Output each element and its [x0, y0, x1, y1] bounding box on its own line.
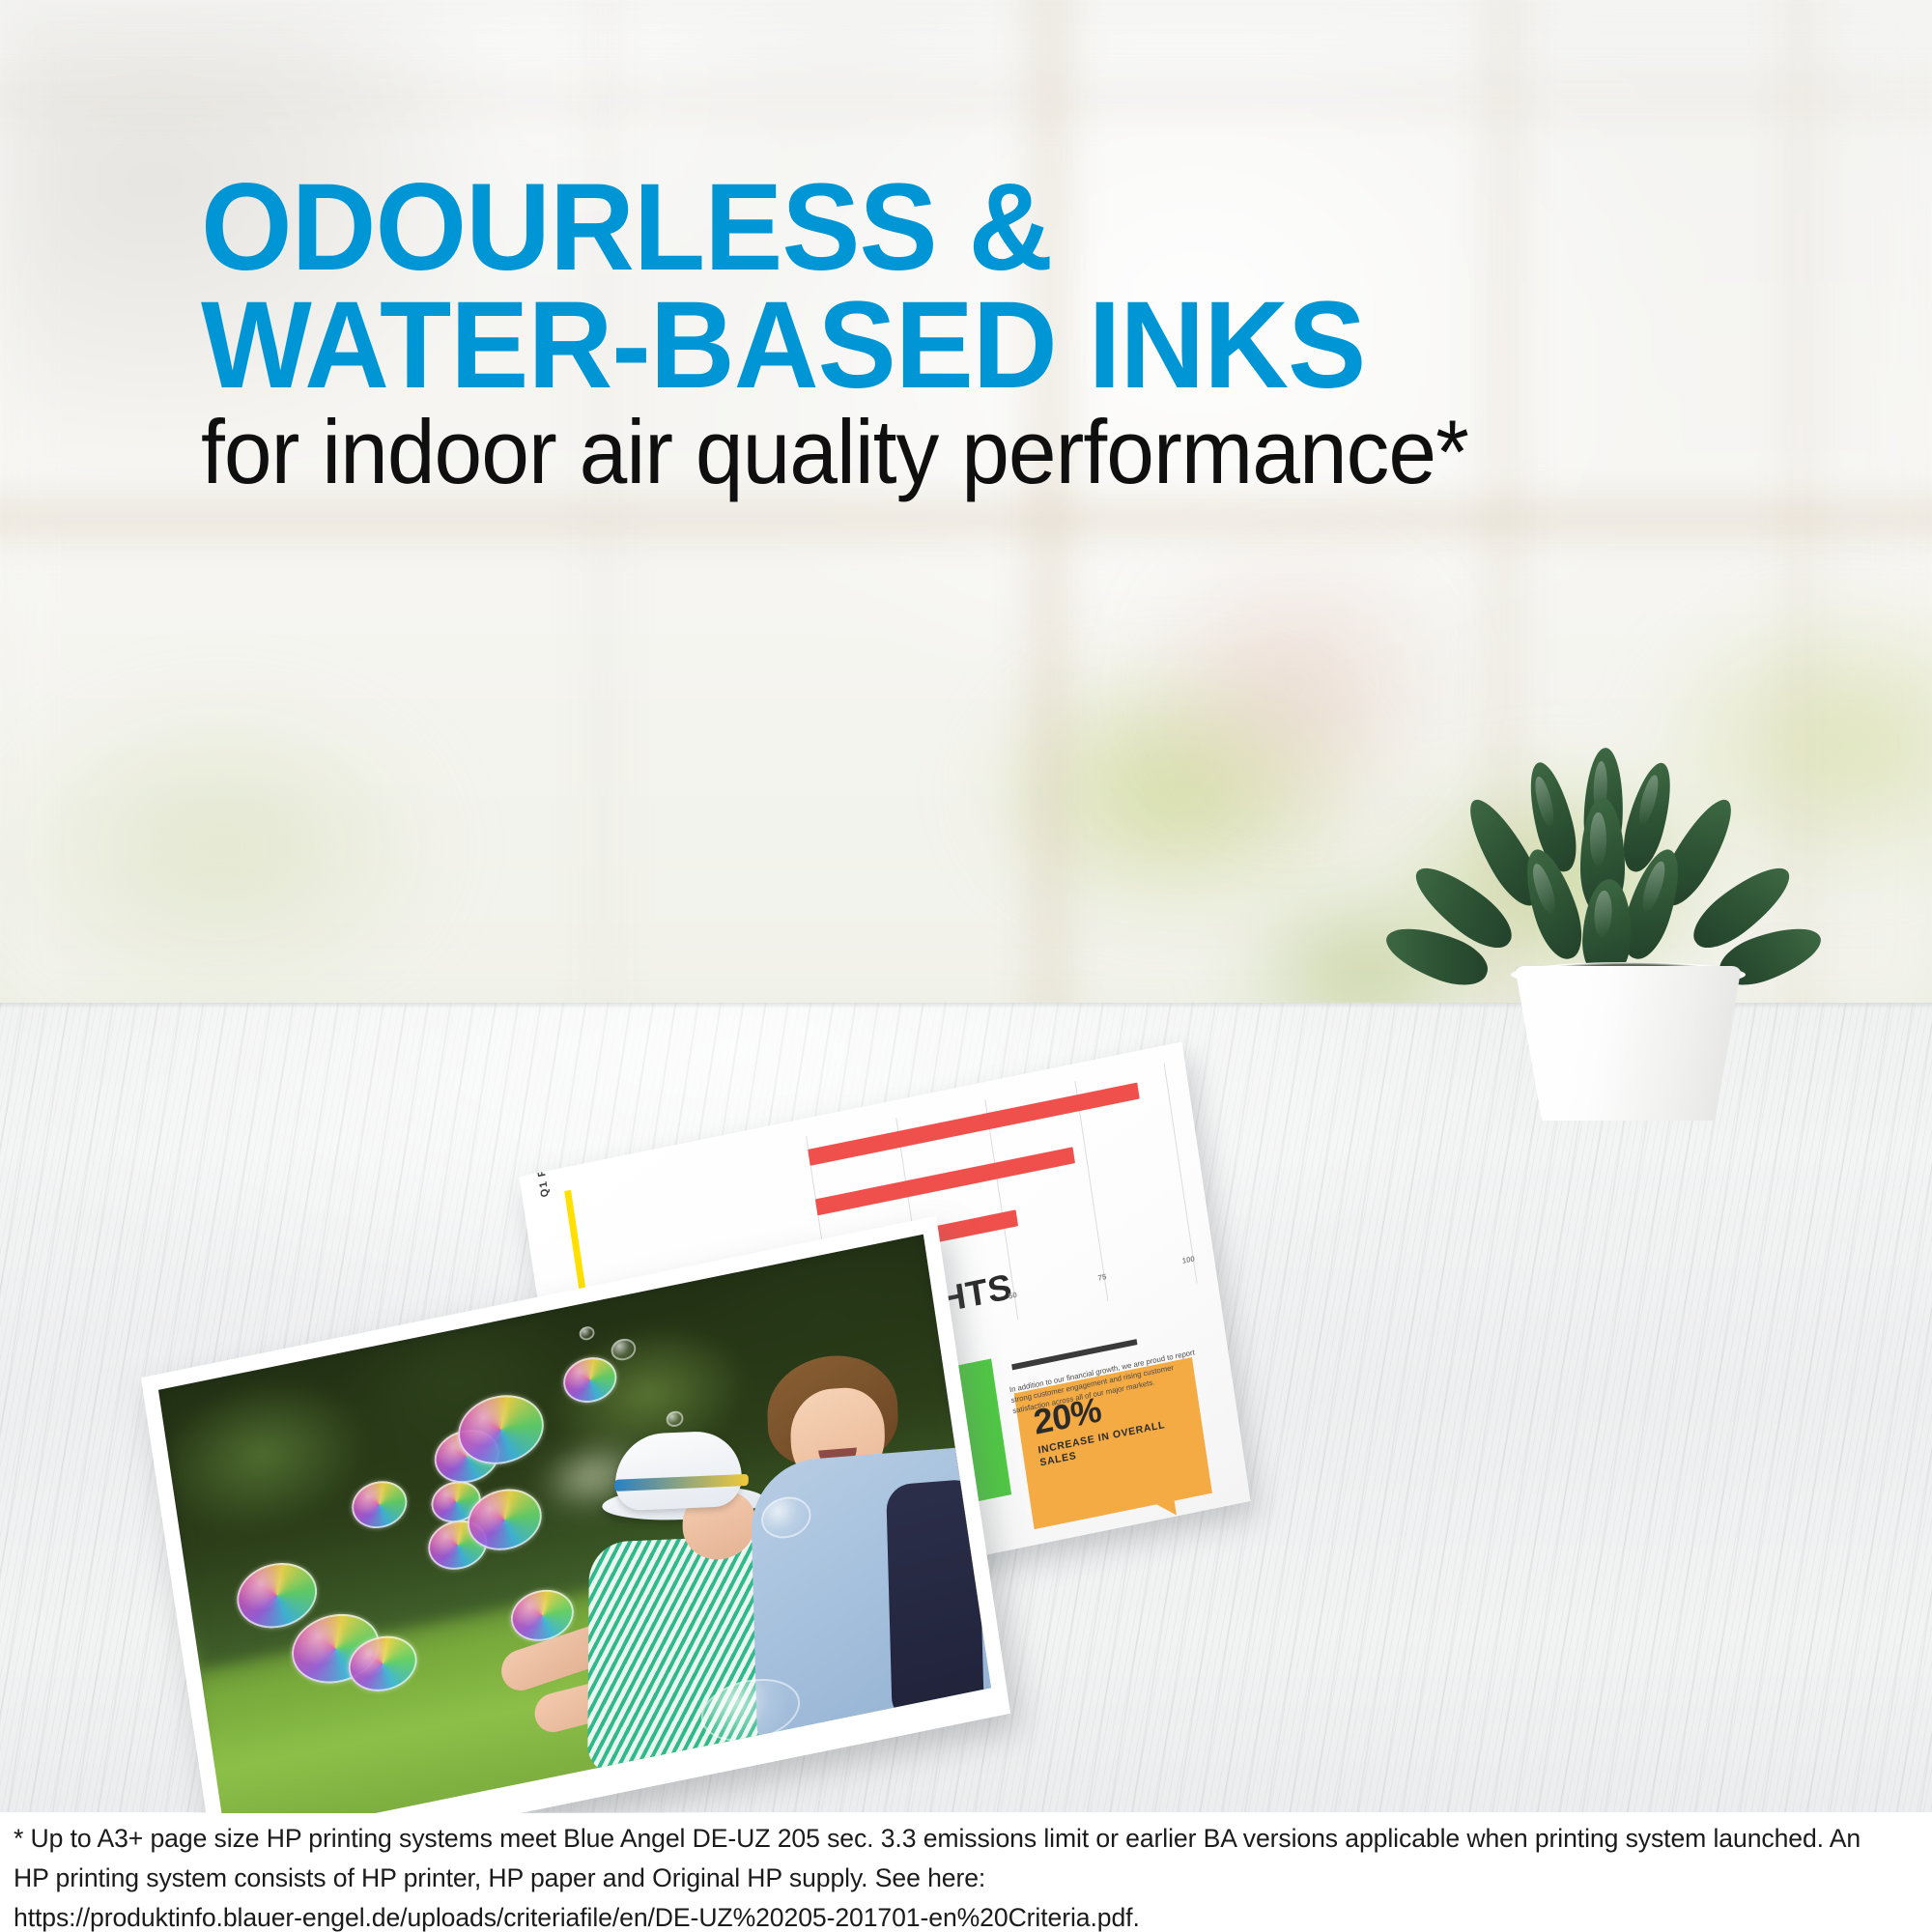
- window-transom-lower: [0, 502, 1932, 535]
- footnote: * Up to A3+ page size HP printing system…: [0, 1813, 1932, 1932]
- background-foliage-left: [0, 580, 522, 1009]
- ceramic-pot: [1515, 966, 1742, 1121]
- window-mullion-4: [1787, 0, 1812, 1009]
- chart-tick-label: 50: [1008, 1291, 1017, 1301]
- potted-succulent: [1468, 744, 1787, 1111]
- window-mullion-1: [1032, 0, 1066, 1009]
- footnote-line-1: * Up to A3+ page size HP printing system…: [14, 1819, 1889, 1859]
- headline: ODOURLESS & WATER-BASED INKS: [201, 169, 1669, 405]
- headline-line-1: ODOURLESS &: [201, 169, 1596, 287]
- window-mullion-3: [591, 0, 614, 1009]
- gridline: [1074, 1081, 1108, 1301]
- card-tail: [1155, 1500, 1177, 1520]
- footnote-line-2: HP printing system consists of HP printe…: [14, 1859, 1889, 1898]
- marketing-banner: Q1 FINANCIAL REPORT AN OVERVIEW PROJECT …: [0, 0, 1932, 1932]
- footnote-line-3: https://produktinfo.blauer-engel.de/uplo…: [14, 1898, 1889, 1932]
- window-transom-upper: [0, 87, 1932, 112]
- background-warm-blur: [1140, 541, 1449, 831]
- subheadline: for indoor air quality performance*: [201, 404, 1669, 500]
- headline-line-2: WATER-BASED INKS: [201, 287, 1596, 405]
- chart-tick-label: 75: [1097, 1272, 1107, 1283]
- woman-dark-vest: [886, 1478, 984, 1722]
